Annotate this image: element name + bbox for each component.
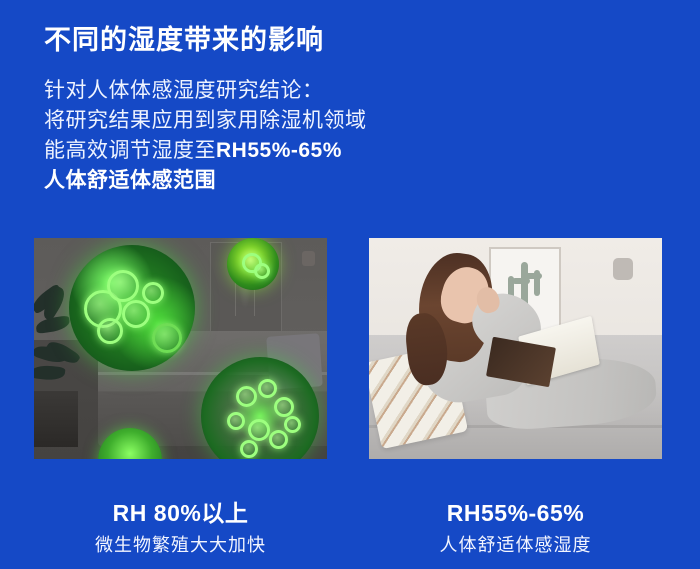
woman-reading <box>369 238 662 459</box>
photo-high-humidity <box>34 238 327 459</box>
body-copy-block: 针对人体体感湿度研究结论： 将研究结果应用到家用除湿机领域 能高效调节湿度至RH… <box>44 76 474 196</box>
wall-switch-icon <box>302 251 315 266</box>
body-copy-line-4: 人体舒适体感范围 <box>44 166 474 196</box>
plant-leaf <box>34 364 66 381</box>
caption-main-right: RH55%-65% <box>369 498 662 528</box>
body-copy-line-2: 将研究结果应用到家用除湿机领域 <box>44 106 474 136</box>
body-copy-line-1: 针对人体体感湿度研究结论： <box>44 76 474 106</box>
dark-room-scene <box>34 238 327 459</box>
photo-comfort-humidity <box>369 238 662 459</box>
humidity-infographic-poster: 不同的湿度带来的影响 针对人体体感湿度研究结论： 将研究结果应用到家用除湿机领域… <box>0 0 700 569</box>
page-title: 不同的湿度带来的影响 <box>44 18 324 57</box>
plant-leaf <box>46 337 82 368</box>
microbe-small-bright <box>227 238 279 290</box>
caption-sub-right: 人体舒适体感湿度 <box>369 533 662 557</box>
body-copy-line-3: 能高效调节湿度至RH55%-65% <box>44 136 474 166</box>
bright-room-scene <box>369 238 662 459</box>
caption-high-humidity: RH 80%以上 微生物繁殖大大加快 <box>34 498 327 557</box>
plant-pot <box>34 391 78 447</box>
microbe-cluster-large <box>69 245 195 371</box>
caption-main-left: RH 80%以上 <box>34 498 327 528</box>
body-copy-line-3-emphasis: RH55%-65% <box>216 139 342 162</box>
body-copy-line-3-prefix: 能高效调节湿度至 <box>44 139 216 162</box>
caption-sub-left: 微生物繁殖大大加快 <box>34 533 327 557</box>
caption-comfort-humidity: RH55%-65% 人体舒适体感湿度 <box>369 498 662 557</box>
